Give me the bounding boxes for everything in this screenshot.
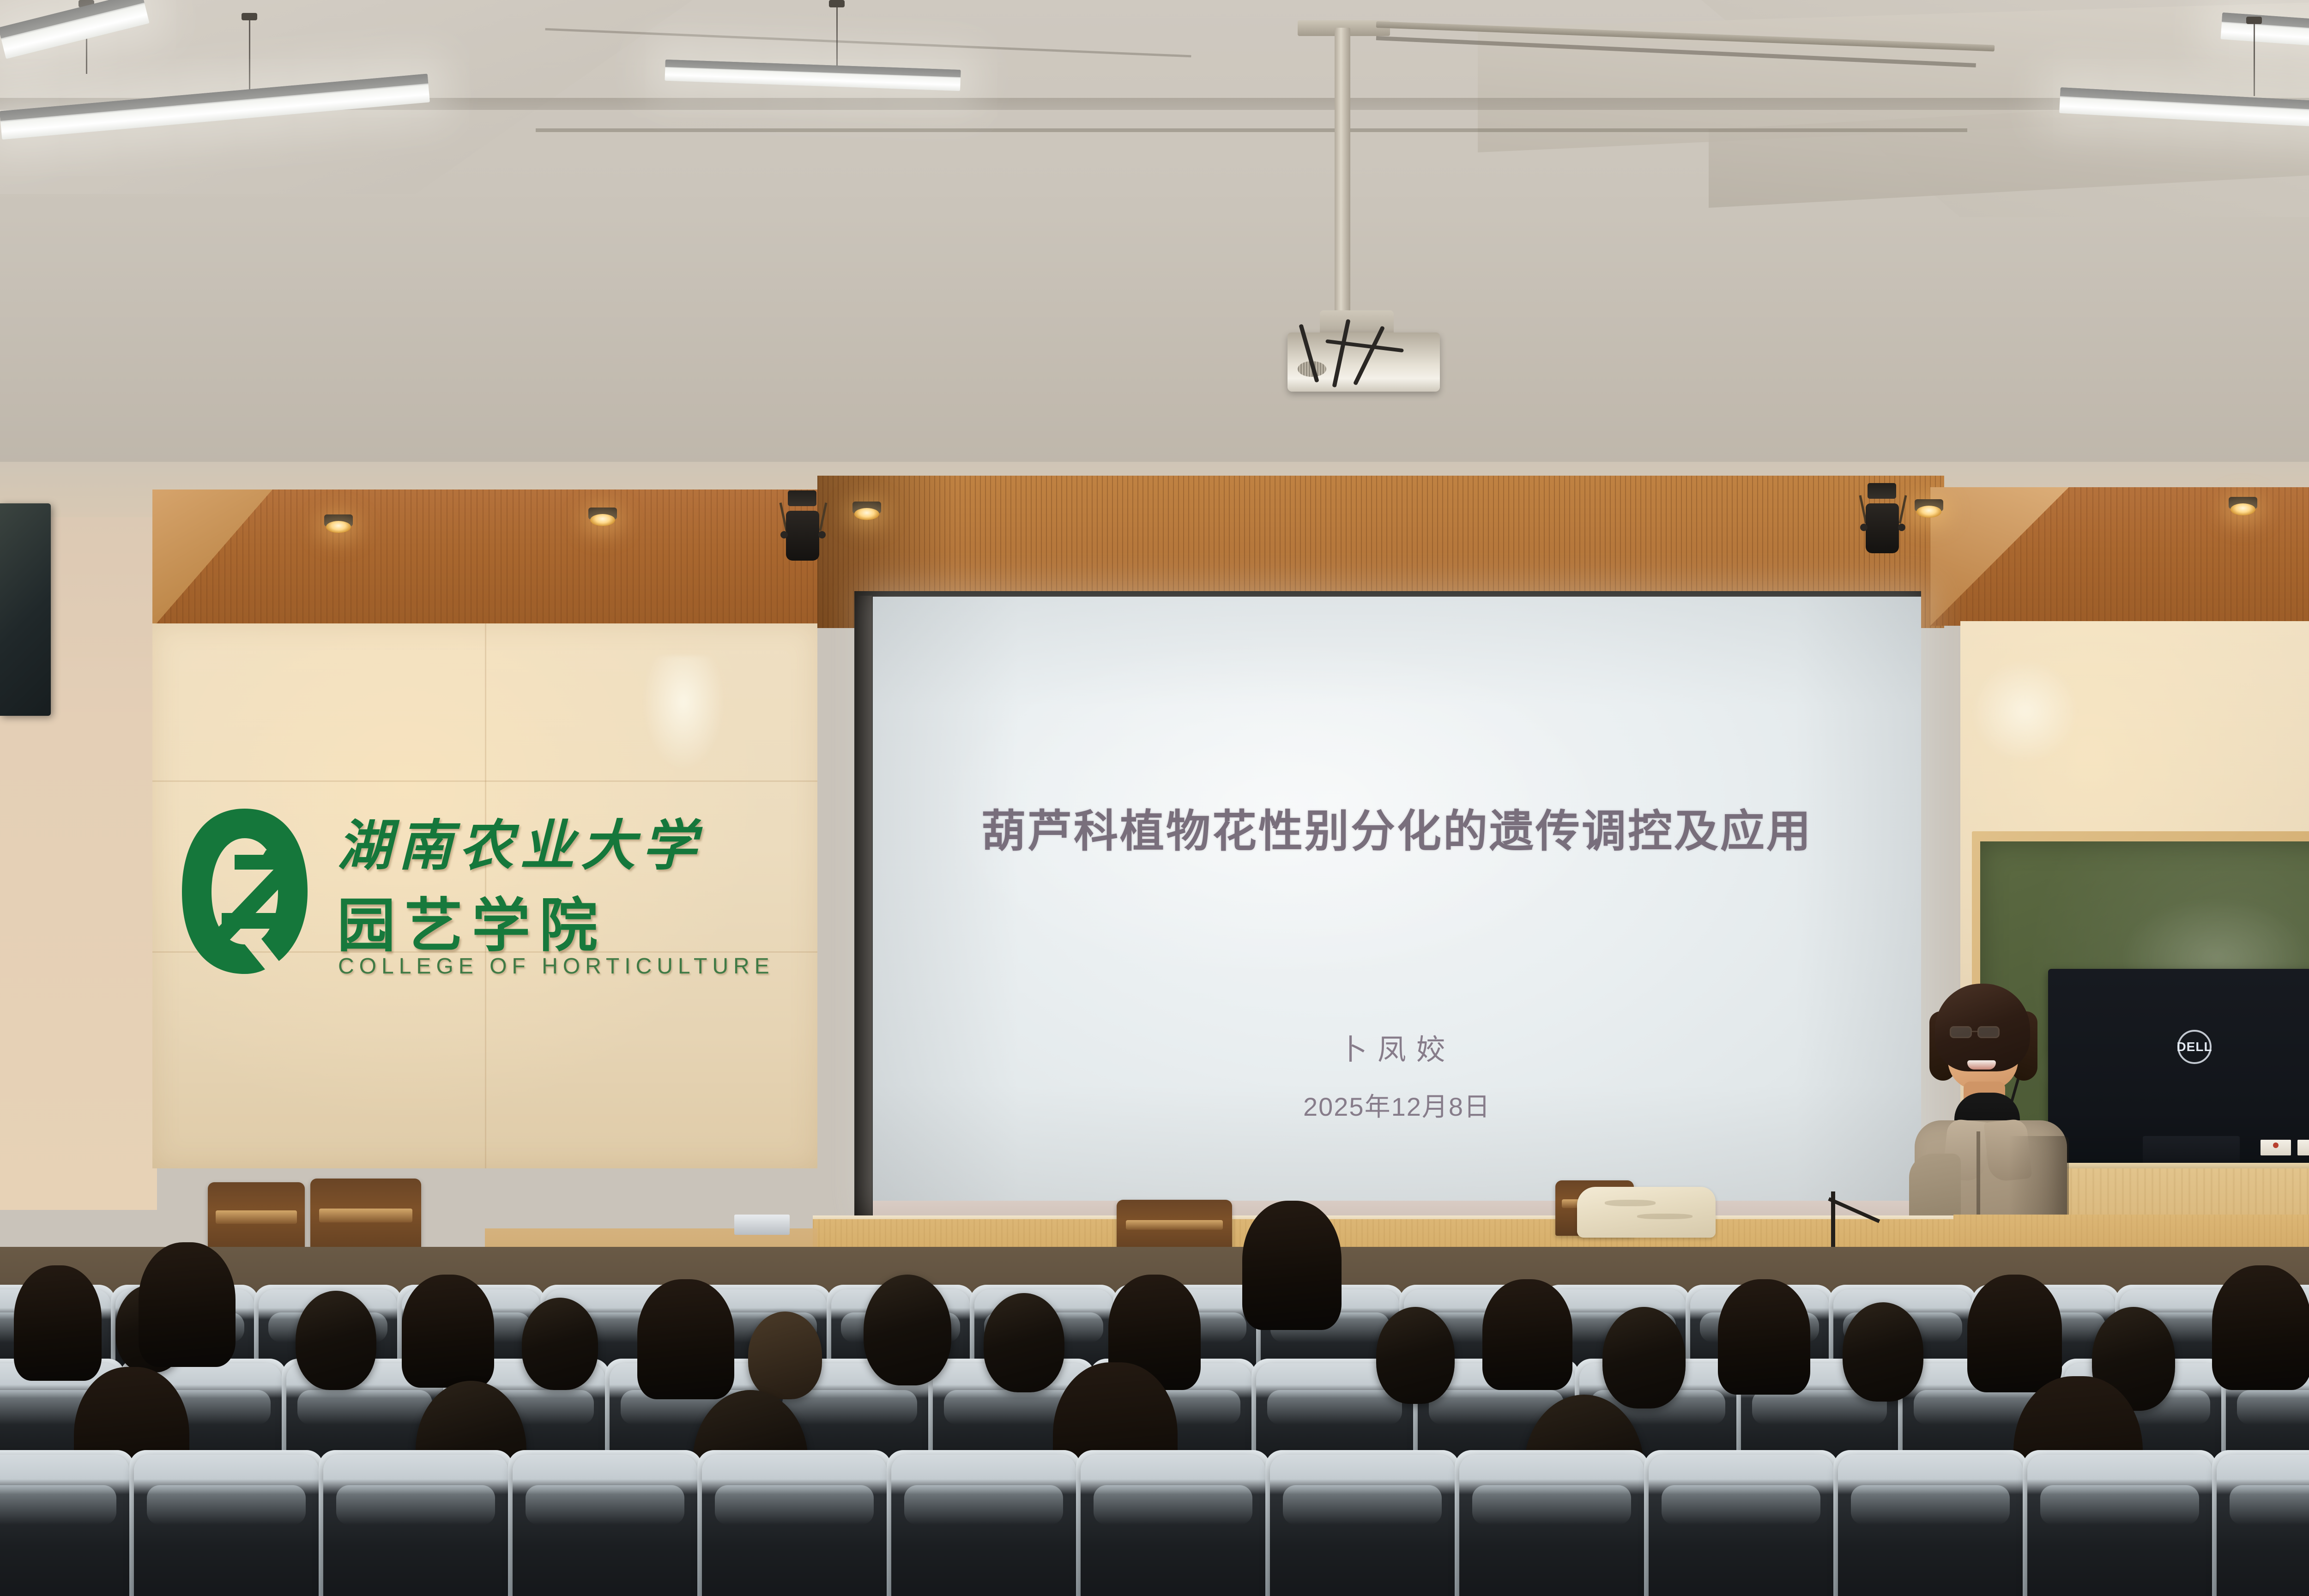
auditorium-seat[interactable] — [702, 1455, 887, 1596]
spotlight-knob-right — [1898, 524, 1905, 531]
sign-university-name: 湖南农业大学 — [337, 801, 703, 880]
sign-college-name: 园艺学院 — [337, 879, 607, 963]
auditorium-seat[interactable] — [891, 1455, 1076, 1596]
spotlight-mount — [1868, 483, 1896, 499]
lecture-hall-photo: 湖南农业大学 园艺学院 COLLEGE OF HORTICULTURE 葫芦科植… — [0, 0, 2309, 1596]
downlight-icon — [854, 508, 879, 520]
wall-glare-left — [642, 656, 725, 771]
college-wall-sign: 湖南农业大学 园艺学院 COLLEGE OF HORTICULTURE — [175, 801, 776, 1018]
audience-member — [402, 1275, 494, 1388]
auditorium-seat[interactable] — [1838, 1455, 2023, 1596]
stage-chair-highlight — [216, 1210, 297, 1224]
slide-title: 葫芦科植物花性别分化的遗传调控及应用 — [873, 795, 1921, 859]
lamp-ceiling-mount — [242, 13, 257, 20]
podium-nameplate-2 — [2297, 1140, 2309, 1155]
projection-screen[interactable]: 葫芦科植物花性别分化的遗传调控及应用 卜凤姣 2025年12月8日 — [873, 597, 1921, 1206]
audience-member — [637, 1279, 734, 1399]
lamp-ceiling-mount — [829, 0, 845, 7]
glasses-lens-left-icon — [1950, 1026, 1972, 1038]
slide-date: 2025年12月8日 — [873, 1086, 1921, 1124]
spotlight-knob-left — [1860, 524, 1868, 531]
sign-college-name-en: COLLEGE OF HORTICULTURE — [338, 954, 774, 979]
audience-member — [1967, 1275, 2062, 1392]
auditorium-seat[interactable] — [1081, 1455, 1265, 1596]
draped-coat — [1577, 1187, 1716, 1238]
auditorium-seat[interactable] — [1270, 1455, 1455, 1596]
spotlight-yoke-right — [819, 502, 828, 531]
lamp-suspension-wire — [249, 18, 250, 92]
coat-fold-2 — [1637, 1214, 1692, 1219]
laptop-on-table — [734, 1215, 790, 1235]
ceiling-edge-line — [536, 128, 1967, 132]
audience-member — [748, 1312, 822, 1399]
spotlight-body — [786, 511, 819, 561]
podium-nameplate-1 — [2261, 1140, 2291, 1155]
lamp-ceiling-mount — [2246, 17, 2262, 24]
spotlight-knob-left — [780, 531, 788, 538]
slide-author: 卜凤姣 — [873, 1026, 1921, 1068]
auditorium-seat[interactable] — [513, 1455, 697, 1596]
auditorium-seat[interactable] — [323, 1455, 508, 1596]
stage-spotlight-icon — [772, 490, 837, 569]
wall-speaker-left — [0, 503, 51, 716]
dell-logo-icon: DELL — [2177, 1030, 2212, 1064]
lamp-suspension-wire — [2254, 22, 2255, 96]
audience-member — [296, 1291, 376, 1390]
stage-spotlight-icon — [1852, 483, 1916, 562]
audience-member — [522, 1298, 598, 1390]
audience-member — [139, 1242, 236, 1367]
glasses-bridge-icon — [1972, 1031, 1978, 1032]
coat-fold-1 — [1605, 1200, 1656, 1206]
auditorium-seat[interactable] — [1649, 1455, 1833, 1596]
audience-member — [1242, 1201, 1342, 1330]
spotlight-body — [1866, 503, 1899, 553]
spotlight-knob-right — [818, 531, 826, 538]
presenter-smile — [1967, 1060, 1996, 1070]
audience-member — [1376, 1307, 1455, 1404]
wall-glare-right — [1972, 660, 2078, 762]
auditorium-seat[interactable] — [1459, 1455, 1644, 1596]
screen-border-left — [855, 596, 872, 1228]
downlight-icon — [326, 521, 351, 533]
audience-member — [1718, 1279, 1810, 1395]
audience-member — [1482, 1279, 1572, 1390]
audience-member — [984, 1293, 1064, 1392]
downlight-icon — [590, 514, 615, 526]
auditorium-seat[interactable] — [0, 1455, 129, 1596]
audience-member — [1843, 1302, 1923, 1402]
auditorium-seat[interactable] — [2217, 1455, 2309, 1596]
spotlight-mount — [788, 490, 816, 506]
auditorium-seat[interactable] — [2027, 1455, 2212, 1596]
audience-member — [864, 1275, 951, 1385]
audience-member — [2212, 1265, 2309, 1390]
auditorium-seat[interactable] — [134, 1455, 319, 1596]
projector-drop-pole — [1335, 28, 1350, 356]
downlight-icon — [2230, 503, 2255, 515]
spotlight-yoke-right — [1899, 495, 1907, 524]
glasses-lens-right-icon — [1977, 1026, 2000, 1038]
stage-chair-highlight — [319, 1209, 412, 1222]
stage-chair-highlight — [1126, 1220, 1223, 1230]
downlight-icon — [1916, 506, 1941, 518]
college-leaf-logo-icon — [175, 806, 314, 977]
audience-member — [1602, 1307, 1686, 1409]
lamp-suspension-wire — [836, 0, 838, 74]
audience-member — [14, 1265, 102, 1381]
